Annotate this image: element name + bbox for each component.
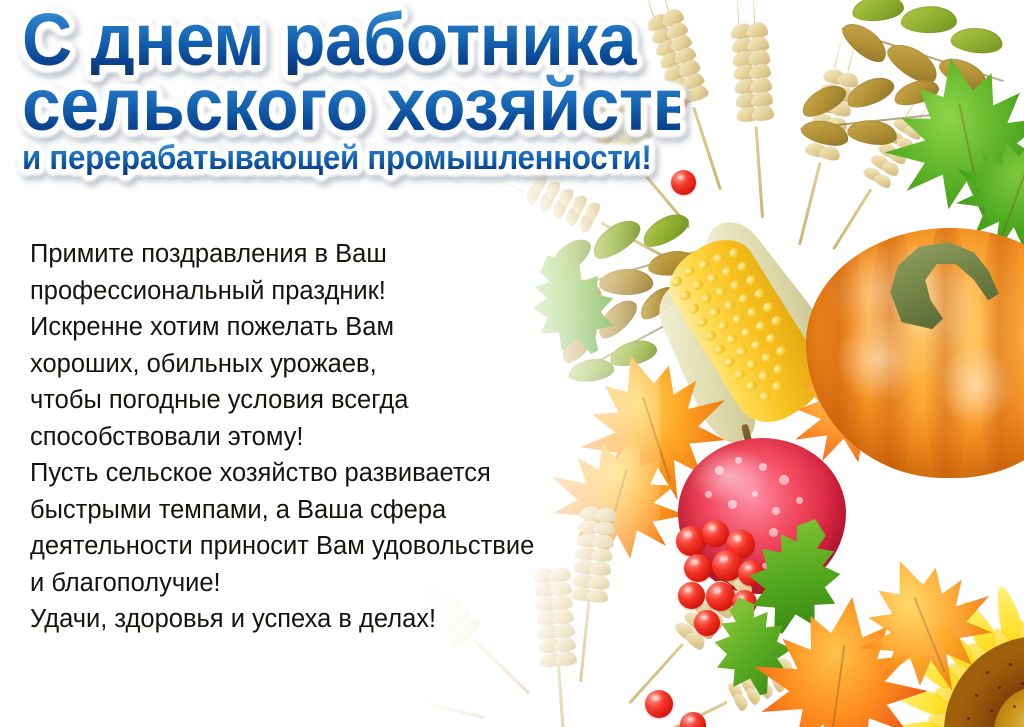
golden-rowan-leaf-top-right: [827, 0, 1020, 128]
message-line: способствовали этому!: [30, 419, 610, 456]
message-line: хороших, обильных урожаев,: [30, 346, 610, 383]
headline-line-3: и перерабатывающей промышленности!: [22, 142, 666, 175]
message-line: профессиональный праздник!: [30, 273, 610, 310]
greeting-message: Примите поздравления в Ваш профессиональ…: [30, 236, 610, 638]
message-line: и благополучие!: [30, 565, 610, 602]
red-berry-bottom-2: [680, 712, 706, 727]
message-line: Пусть сельское хозяйство развивается: [30, 455, 610, 492]
sunflower: [760, 452, 1024, 727]
green-maple-leaf-top-right: [868, 40, 1024, 239]
message-line: Искренне хотим пожелать Вам: [30, 309, 610, 346]
golden-rowan-leaf-top-right-2: [796, 68, 954, 171]
message-line: Удачи, здоровья и успеха в делах!: [30, 601, 610, 638]
message-line: деятельности приносит Вам удовольствие: [30, 528, 610, 565]
message-line: быстрыми темпами, а Ваша сфера: [30, 492, 610, 529]
message-line: Примите поздравления в Ваш: [30, 236, 610, 273]
greeting-card: С днем работника сельского хозяйства и п…: [0, 0, 1024, 727]
headline-line-2: сельского хозяйства: [22, 69, 680, 140]
message-line: чтобы погодные условия всегда: [30, 382, 610, 419]
headline: С днем работника сельского хозяйства и п…: [22, 4, 722, 175]
